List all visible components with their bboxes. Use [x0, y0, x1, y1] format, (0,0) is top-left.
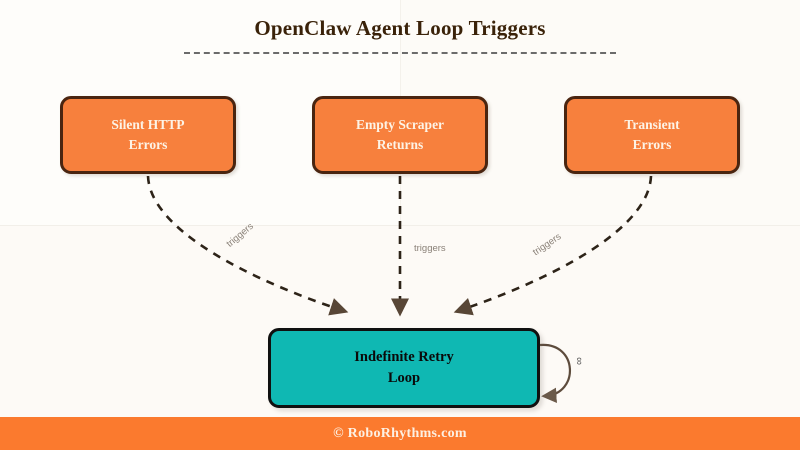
node-transient-errors[interactable]: Transient Errors — [564, 96, 740, 174]
node-empty-scraper-returns[interactable]: Empty Scraper Returns — [312, 96, 488, 174]
node-indefinite-retry-loop[interactable]: Indefinite Retry Loop — [268, 328, 540, 408]
node-label-line-1: Silent HTTP — [111, 115, 184, 135]
edge-label-empty-scraper: triggers — [414, 243, 446, 254]
edge-label-self-loop-infinity: ∞ — [573, 357, 585, 365]
footer-copyright-text: © RoboRhythms.com — [333, 426, 467, 442]
node-label-line-1: Empty Scraper — [356, 115, 444, 135]
node-label-line-1: Transient — [624, 115, 679, 135]
node-label-line-2: Errors — [129, 135, 168, 155]
node-label-line-1: Indefinite Retry — [354, 347, 453, 368]
edge-loop-self-loop — [540, 345, 570, 396]
node-label-line-2: Returns — [377, 135, 424, 155]
node-label-line-2: Loop — [388, 368, 420, 389]
node-silent-http-errors[interactable]: Silent HTTP Errors — [60, 96, 236, 174]
edge-silent-http-to-loop — [148, 176, 344, 311]
diagram-canvas: OpenClaw Agent Loop Triggers Silent HTTP… — [0, 0, 800, 450]
node-label-line-2: Errors — [633, 135, 672, 155]
footer-bar: © RoboRhythms.com — [0, 417, 800, 450]
